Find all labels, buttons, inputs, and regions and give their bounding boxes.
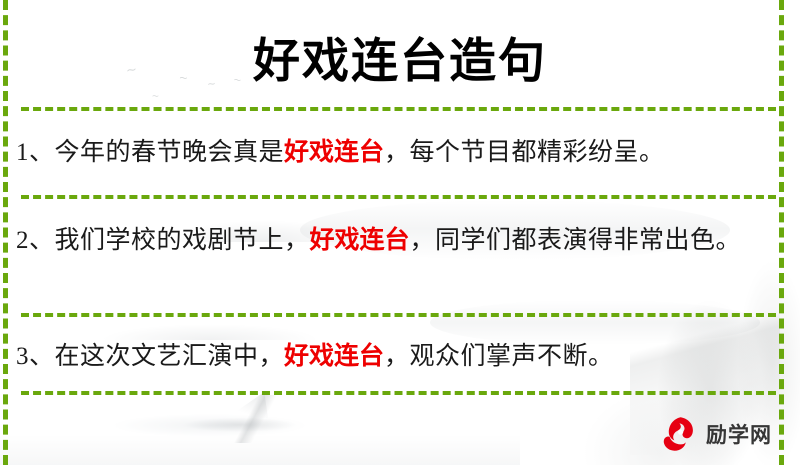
divider-after-sentence-1 [21, 195, 776, 199]
sentence-number: 3、 [16, 343, 55, 370]
sentence-text-before: 我们学校的戏剧节上， [55, 227, 310, 254]
watermark-hill-lower-left [60, 300, 360, 340]
watermark-boat-sail [222, 392, 268, 418]
sentence-text-after: ，观众们掌声不断。 [384, 343, 614, 370]
idiom-highlight: 好戏连台 [284, 343, 384, 370]
sentence-item: 2、我们学校的戏剧节上，好戏连台，同学们都表演得非常出色。 [16, 222, 768, 260]
sentence-text-before: 今年的春节晚会真是 [55, 139, 285, 166]
divider-under-title [21, 107, 776, 111]
sentence-item: 3、在这次文艺汇演中，好戏连台，观众们掌声不断。 [16, 338, 768, 376]
sentence-number: 2、 [16, 227, 55, 254]
page-border-left [3, 0, 8, 465]
divider-after-sentence-2 [21, 313, 776, 317]
idiom-highlight: 好戏连台 [284, 139, 384, 166]
brand-name: 励学网 [706, 419, 772, 449]
divider-after-sentence-3 [21, 391, 776, 395]
sentence-text-after: ，同学们都表演得非常出色。 [410, 227, 742, 254]
sentence-number: 1、 [16, 139, 55, 166]
page-border-right [779, 0, 784, 465]
sentence-text-after: ，每个节目都精彩纷呈。 [384, 139, 665, 166]
sentence-item: 1、今年的春节晚会真是好戏连台，每个节目都精彩纷呈。 [16, 134, 768, 172]
idiom-highlight: 好戏连台 [310, 227, 410, 254]
worksheet-page: ∼ ∼ ∼ ∼ ∼ 好戏连台造句 1、今年的春节晚会真是好戏连台，每个节目都精彩… [0, 0, 800, 465]
watermark-boat [160, 395, 360, 443]
watermark-water [80, 412, 340, 446]
sentence-text-before: 在这次文艺汇演中， [55, 343, 285, 370]
brand-watermark: 励学网 [660, 414, 772, 454]
watermark-bird-icon: ∼ [151, 90, 159, 102]
flame-swirl-icon [660, 414, 700, 454]
watermark-shore [0, 435, 520, 465]
page-title: 好戏连台造句 [0, 22, 800, 91]
